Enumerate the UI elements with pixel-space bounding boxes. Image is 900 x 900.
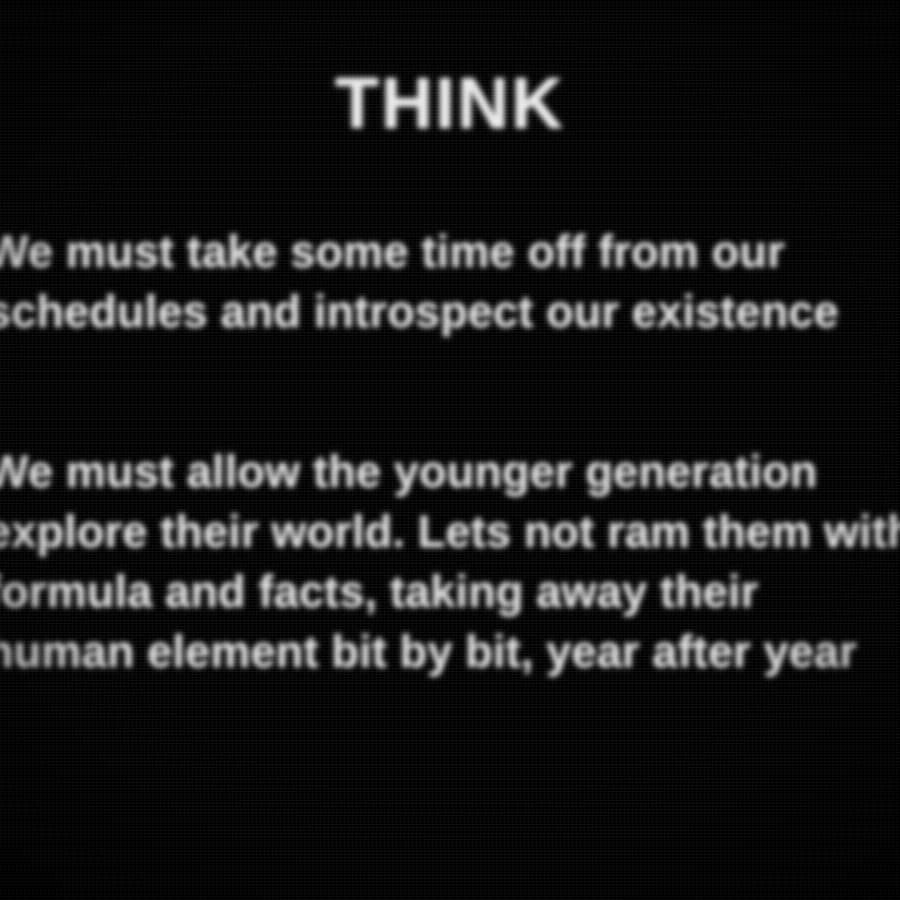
presentation-slide: THINK We must take some time off from ou… — [0, 0, 900, 900]
paragraph-2-line-3: formula and facts, taking away their — [0, 562, 900, 622]
slide-paragraph-2: We must allow the younger generation exp… — [0, 442, 900, 682]
slide-paragraph-1: We must take some time off from our sche… — [0, 222, 900, 342]
slide-content-layer: THINK We must take some time off from ou… — [0, 0, 900, 900]
paragraph-1-line-1: We must take some time off from our — [0, 222, 900, 282]
paragraph-2-line-1: We must allow the younger generation — [0, 442, 900, 502]
paragraph-1-line-2: schedules and introspect our existence — [0, 282, 900, 342]
paragraph-2-line-4: human element bit by bit, year after yea… — [0, 622, 900, 682]
paragraph-2-line-2: explore their world. Lets not ram them w… — [0, 502, 900, 562]
slide-title: THINK — [0, 68, 900, 140]
